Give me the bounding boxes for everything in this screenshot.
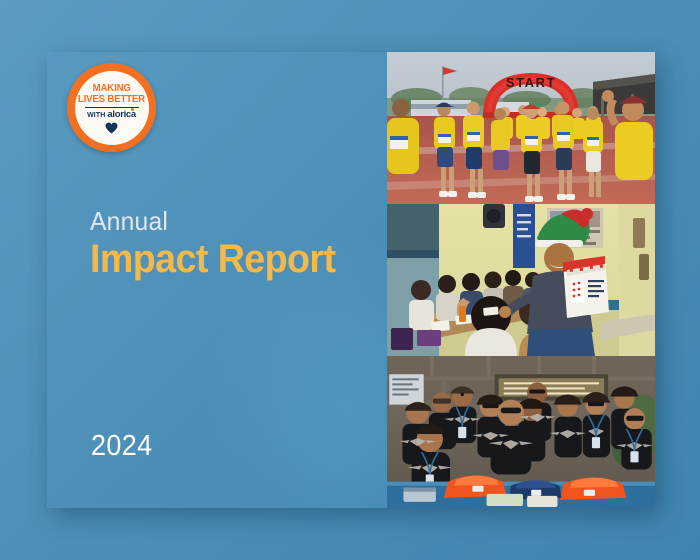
photo-collage-panel: START: [387, 52, 655, 508]
page-title: Impact Report: [90, 237, 335, 281]
photo-holiday-giving: [387, 204, 655, 356]
cover-card: MAKING LIVES BETTER WITH alorica: [47, 52, 655, 508]
logo-brand-alorica: alorica: [107, 110, 136, 120]
svg-text:START: START: [506, 75, 556, 90]
report-cover-page: MAKING LIVES BETTER WITH alorica: [0, 0, 700, 560]
photo-volunteer-team: [387, 356, 655, 508]
heart-icon: [105, 122, 118, 134]
left-text-panel: MAKING LIVES BETTER WITH alorica: [47, 52, 387, 508]
making-lives-better-logo: MAKING LIVES BETTER WITH alorica: [67, 63, 156, 152]
logo-with-word: WITH: [87, 112, 105, 119]
cover-headline-block: Annual Impact Report: [90, 207, 351, 281]
logo-inner-disc: MAKING LIVES BETTER WITH alorica: [75, 71, 149, 145]
cover-eyebrow: Annual: [90, 207, 338, 236]
logo-line-lives-better: LIVES BETTER: [78, 94, 145, 105]
cover-year: 2024: [91, 430, 152, 463]
logo-with-brand-row: WITH alorica: [87, 110, 136, 120]
photo-charity-run: START: [387, 52, 655, 204]
